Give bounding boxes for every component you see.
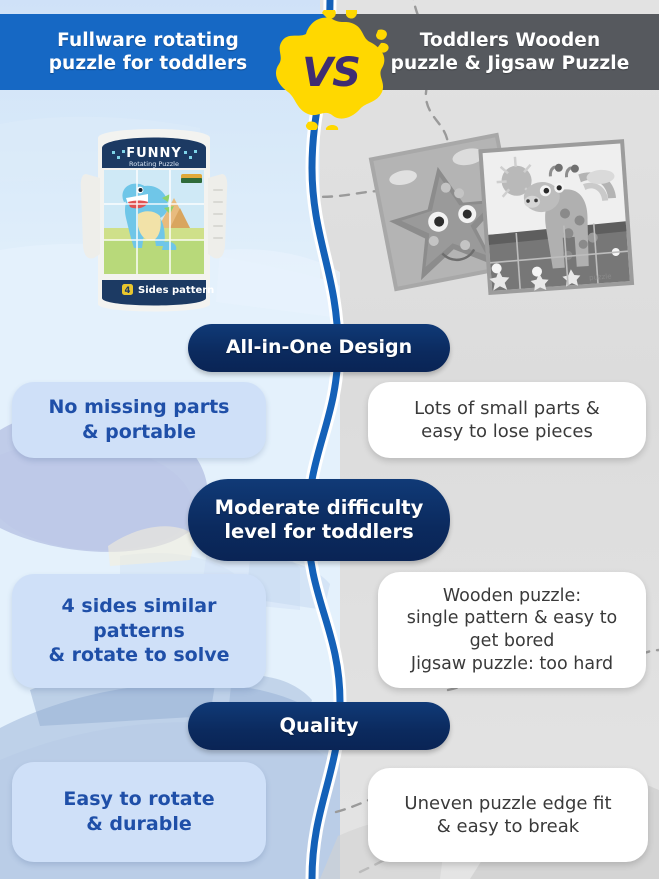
- con-bubble-1: Lots of small parts & easy to lose piece…: [368, 382, 646, 458]
- svg-text:Sides pattern: Sides pattern: [138, 285, 214, 296]
- vs-splat-icon: [262, 10, 398, 130]
- con-bubble-2: Wooden puzzle: single pattern & easy to …: [378, 572, 646, 688]
- svg-text:puzzle: puzzle: [589, 272, 612, 282]
- svg-text:4: 4: [125, 286, 131, 296]
- con-bubble-3: Uneven puzzle edge fit & easy to break: [368, 768, 648, 862]
- wooden-puzzles-image: puzzle: [368, 118, 648, 318]
- section-title-all-in-one-design: All-in-One Design: [188, 324, 450, 372]
- header-bar: Fullware rotating puzzle for toddlers To…: [0, 14, 659, 90]
- product-rotating-puzzle-image: FUNNY Rotating Puzzle: [78, 128, 230, 318]
- vs-badge: VS: [262, 10, 398, 130]
- svg-text:Rotating Puzzle: Rotating Puzzle: [129, 160, 179, 168]
- section-title-quality: Quality: [188, 702, 450, 750]
- pro-bubble-2: 4 sides similar patterns & rotate to sol…: [12, 574, 266, 688]
- pro-bubble-1: No missing parts & portable: [12, 382, 266, 458]
- comparison-infographic: Fullware rotating puzzle for toddlers To…: [0, 0, 659, 879]
- svg-text:FUNNY: FUNNY: [126, 146, 182, 161]
- pro-bubble-3: Easy to rotate & durable: [12, 762, 266, 862]
- header-left-title: Fullware rotating puzzle for toddlers: [41, 29, 290, 76]
- section-title-moderate-difficulty: Moderate difficulty level for toddlers: [188, 479, 450, 561]
